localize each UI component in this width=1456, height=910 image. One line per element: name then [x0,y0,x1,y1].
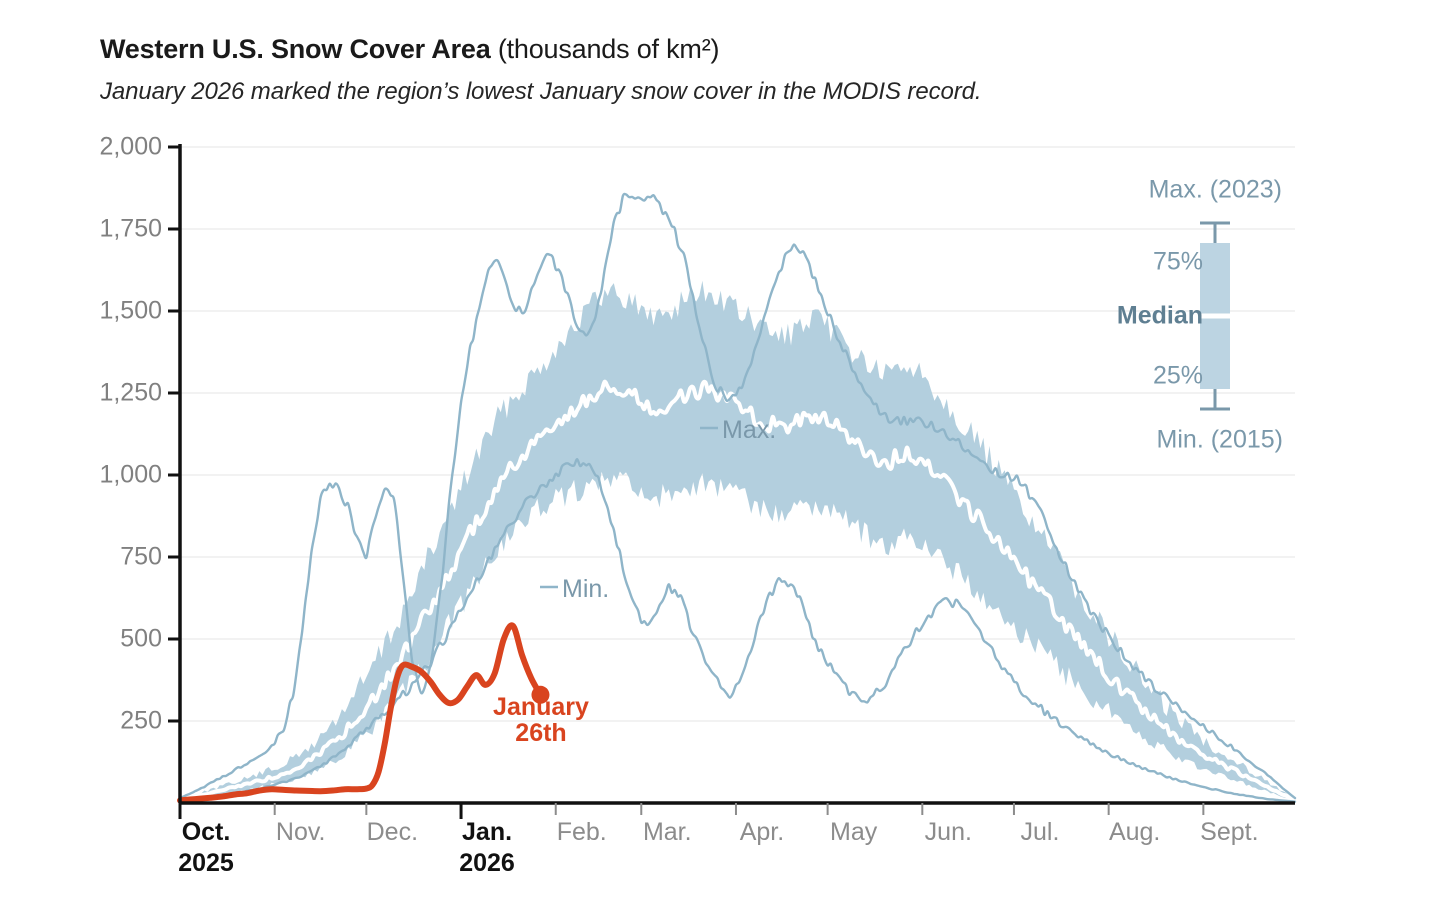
x-axis-tick-label: Aug. [1109,818,1160,847]
current-label-line1: January [493,693,589,721]
y-axis-tick-label: 2,000 [40,133,162,162]
x-axis-tick-label: Nov. [276,818,326,847]
x-axis-tick-label: May [830,818,877,847]
legend-p75-label: 75% [1153,248,1203,277]
x-axis-tick-year: 2025 [178,849,234,878]
x-axis-tick-label: Jun. [925,818,972,847]
legend-median-label: Median [1117,302,1203,331]
y-axis-tick-label: 250 [40,707,162,736]
y-axis-tick-label: 500 [40,625,162,654]
x-axis-tick-label: Jan.2026 [459,818,515,878]
max-series-label: Max. [722,416,776,445]
x-axis-tick-label: Oct.2025 [178,818,234,878]
legend-boxplot-glyph [1045,168,1245,428]
y-axis-tick-label: 1,500 [40,297,162,326]
y-axis-tick-label: 1,750 [40,215,162,244]
x-axis-tick-year: 2026 [459,849,515,878]
boxplot-legend: Max. (2023) 75% Median 25% Min. (2015) [1045,168,1245,428]
current-label-line2: 26th [515,719,566,747]
legend-max-label: Max. (2023) [1149,176,1282,205]
y-axis-tick-label: 750 [40,543,162,572]
x-axis-tick-label: Apr. [740,818,784,847]
legend-p25-label: 25% [1153,362,1203,391]
x-axis-tick-label: Feb. [557,818,607,847]
x-axis-tick-label: Jul. [1021,818,1060,847]
x-axis-tick-label: Dec. [367,818,418,847]
legend-min-label: Min. (2015) [1157,426,1283,455]
current-year-label: January 26th [493,694,589,747]
y-axis-tick-label: 1,250 [40,379,162,408]
min-series-label: Min. [562,575,609,604]
x-axis-tick-label: Sept. [1200,818,1258,847]
y-axis-tick-label: 1,000 [40,461,162,490]
chart-page: Western U.S. Snow Cover Area (thousands … [0,0,1456,910]
snow-cover-chart [0,0,1456,910]
x-axis-tick-label: Mar. [643,818,692,847]
